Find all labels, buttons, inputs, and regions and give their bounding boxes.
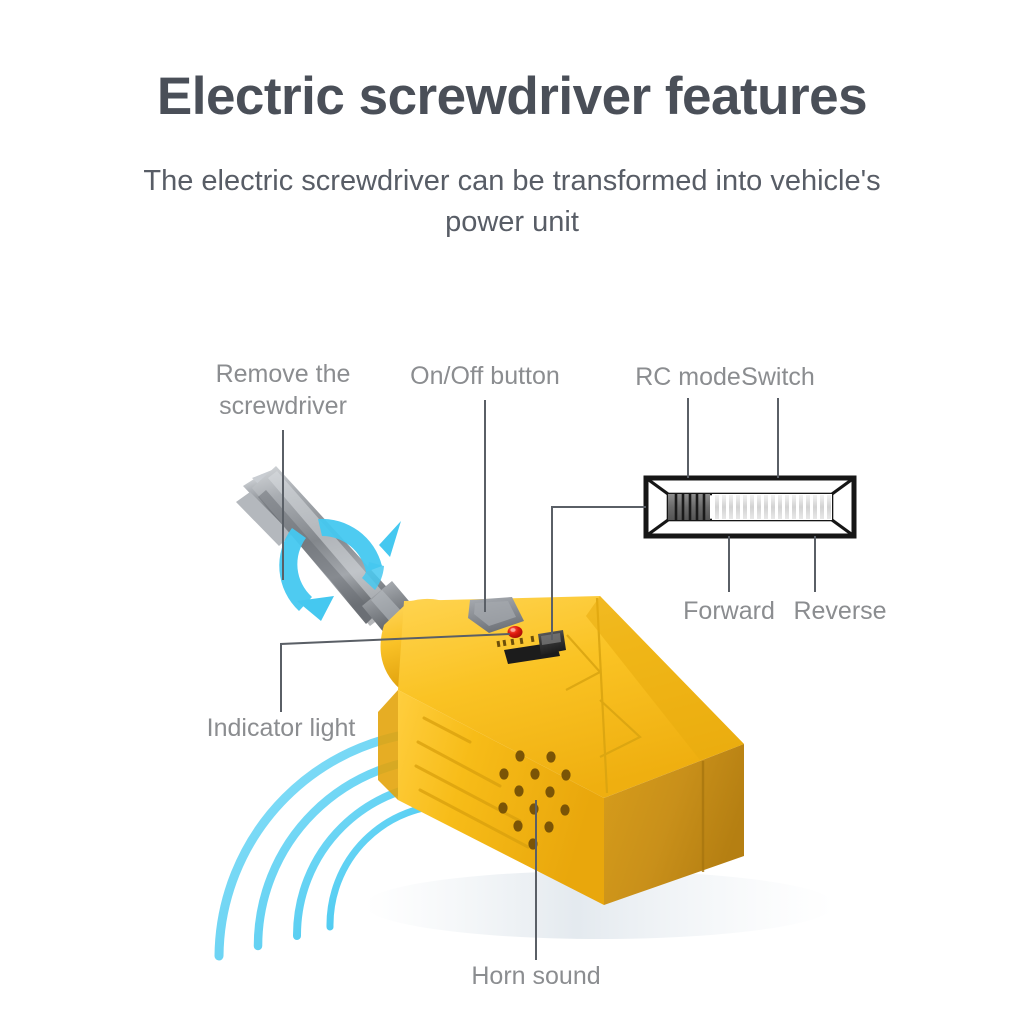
- product-illustration: [0, 0, 1024, 1024]
- infographic-page: Electric screwdriver features The electr…: [0, 0, 1024, 1024]
- device-left-bevel: [378, 690, 398, 800]
- callout-remove-the-screwdriver: Remove the screwdriver: [183, 358, 383, 422]
- switch-detail-box: [646, 478, 854, 536]
- callout-reverse: Reverse: [760, 595, 920, 627]
- callout-horn-sound: Horn sound: [436, 960, 636, 992]
- callout-switch: Switch: [718, 361, 838, 393]
- callout-on-off-button: On/Off button: [385, 360, 585, 392]
- callout-indicator-light: Indicator light: [181, 712, 381, 744]
- indicator-light: [508, 626, 523, 638]
